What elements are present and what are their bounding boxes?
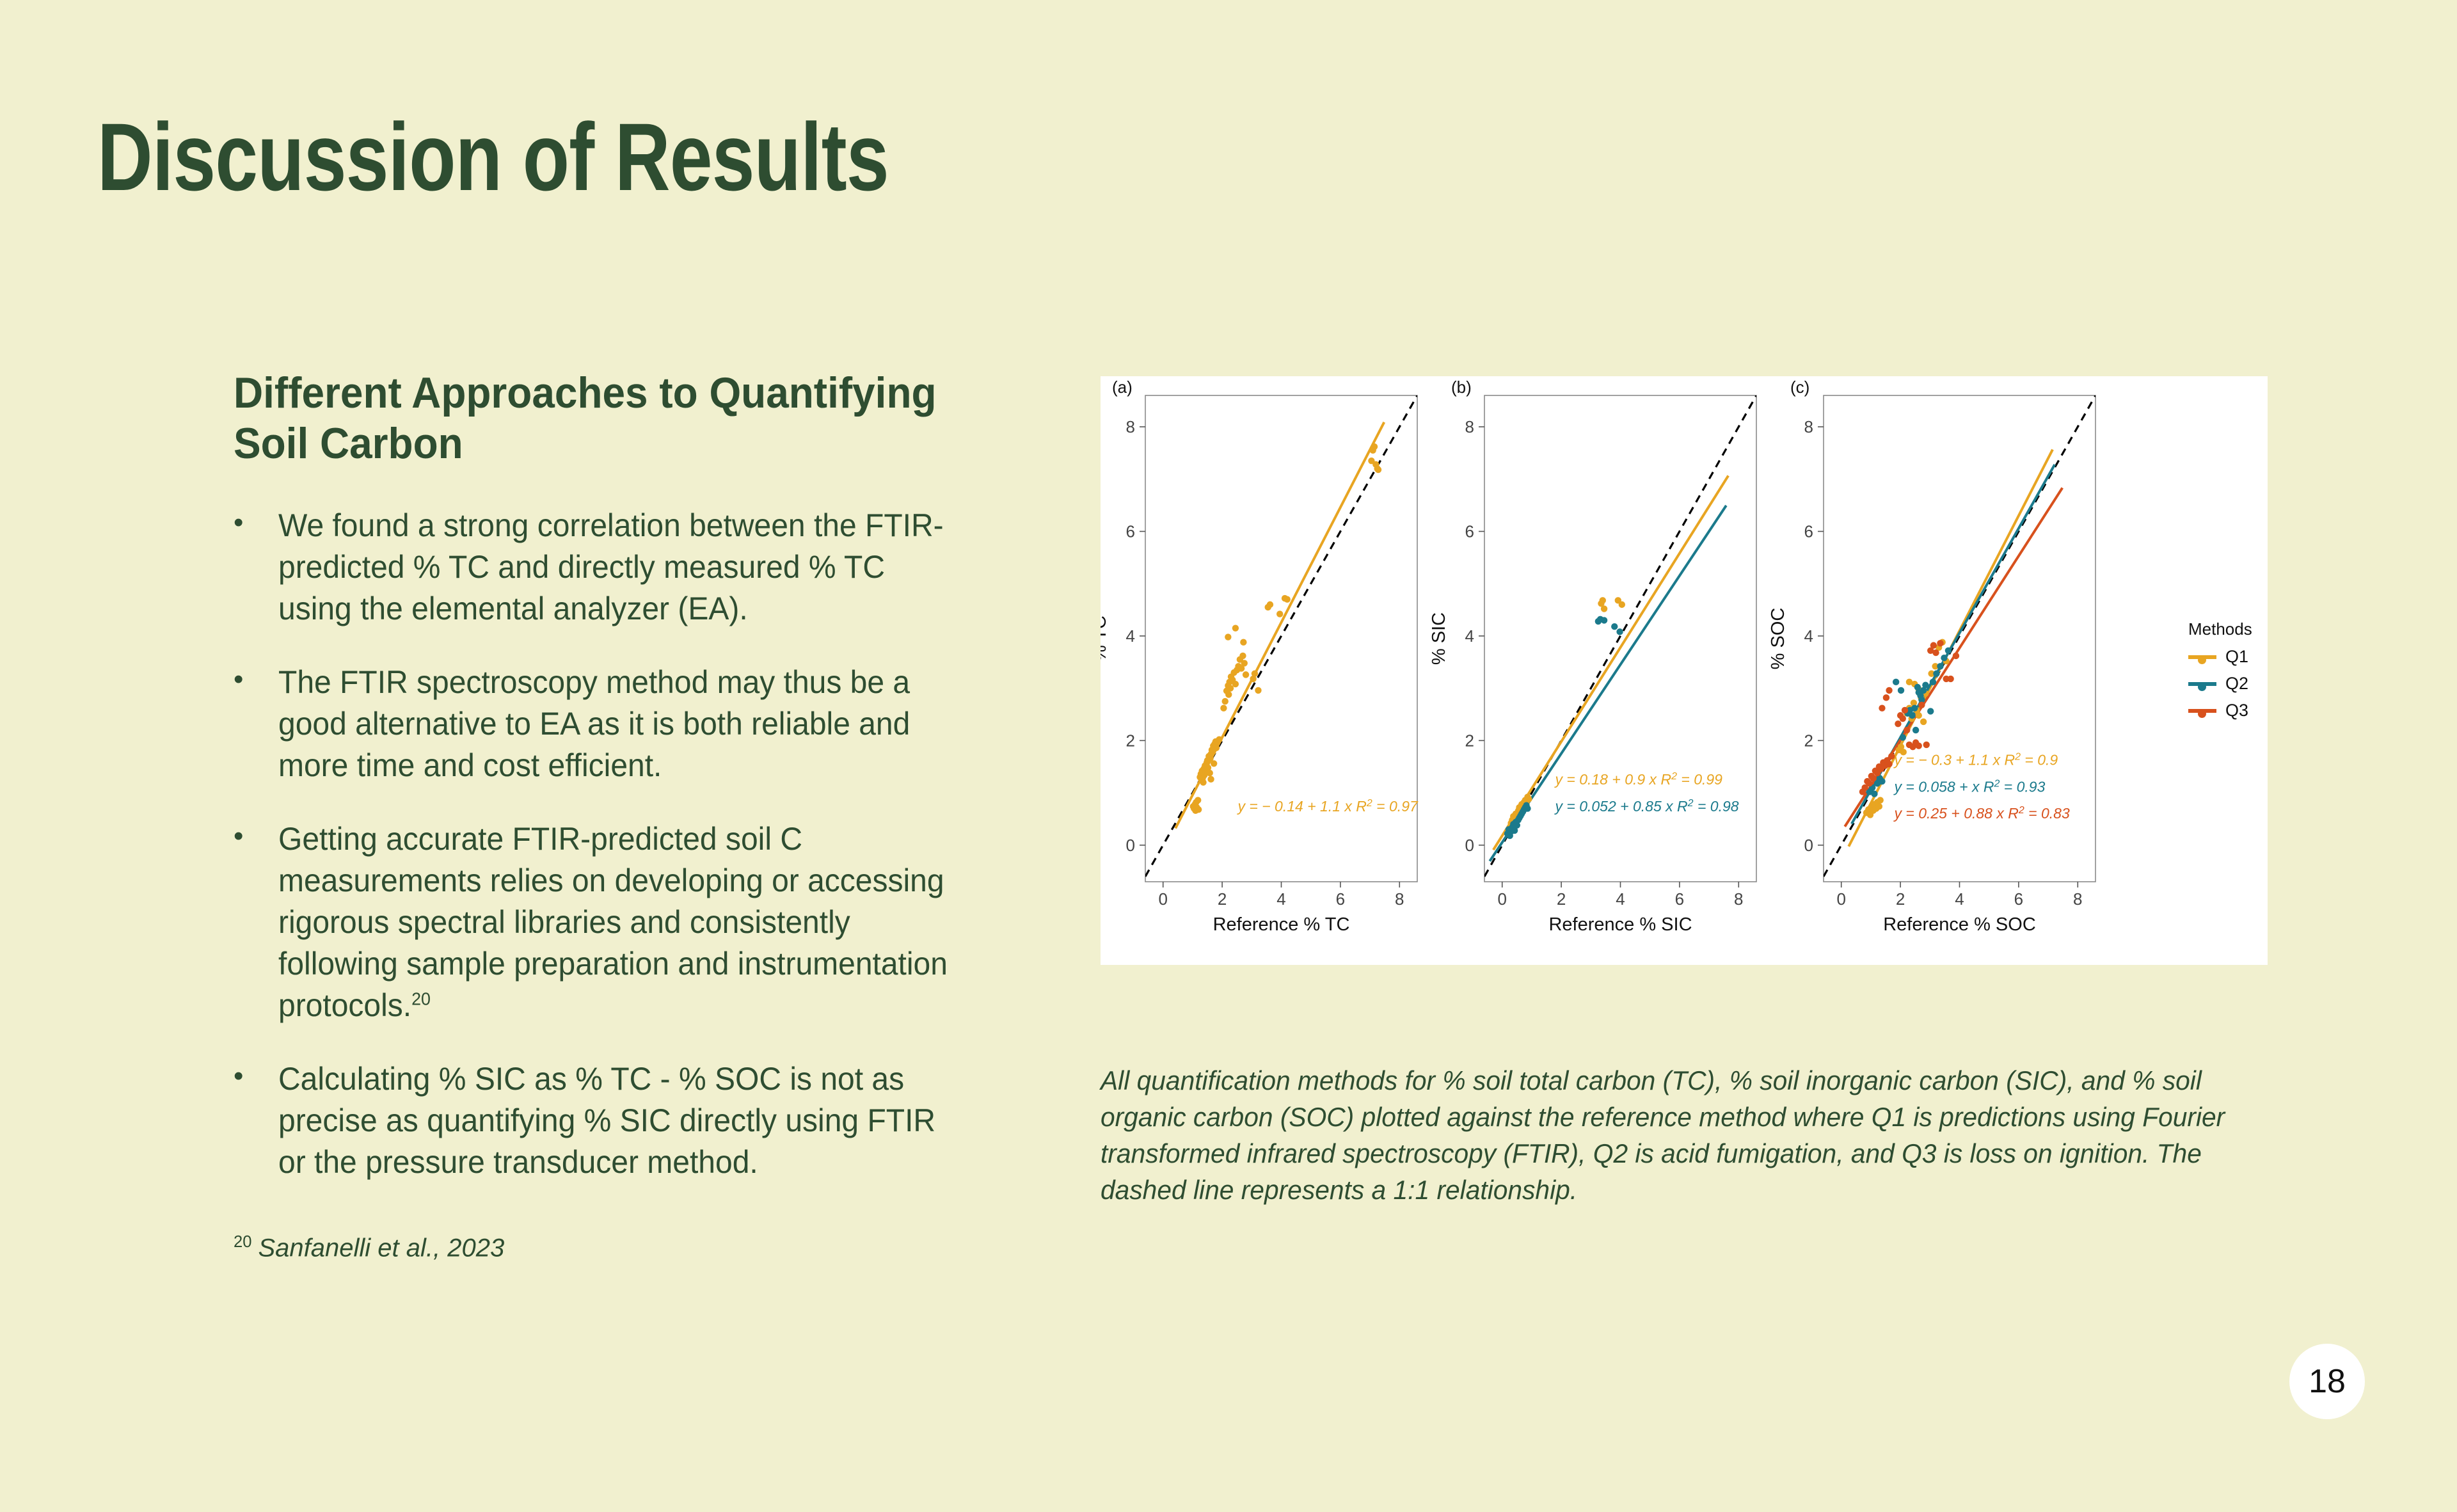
y-axis-title: % SIC: [1429, 612, 1449, 665]
chart-legend: Methods Q1 Q2 Q3: [2188, 619, 2252, 728]
data-point-q1: [1876, 803, 1882, 809]
data-point-q3: [1918, 702, 1925, 708]
data-point-q1: [1241, 660, 1248, 666]
y-tick-label: 4: [1804, 626, 1813, 646]
data-point-q3: [1923, 742, 1930, 748]
data-point-q2: [1933, 671, 1939, 677]
x-tick-label: 6: [2014, 889, 2023, 909]
footnote-text: Sanfanelli et al., 2023: [258, 1234, 504, 1262]
data-point-q2: [1930, 679, 1936, 685]
data-point-q1: [1213, 745, 1220, 751]
data-point-q1: [1255, 687, 1261, 694]
bullet-text: Getting accurate FTIR-predicted soil C m…: [278, 821, 948, 1023]
panel-label: (a): [1112, 378, 1133, 397]
data-point-q3: [1900, 715, 1906, 722]
data-point-q1: [1916, 712, 1922, 719]
data-point-q1: [1220, 704, 1227, 711]
y-tick-label: 2: [1126, 731, 1135, 750]
data-point-q1: [1267, 601, 1273, 608]
data-point-q1: [1877, 797, 1883, 803]
legend-swatch-q1: [2188, 655, 2216, 659]
regression-equation-q2: y = 0.052 + 0.85 x R2 = 0.98: [1554, 798, 1739, 815]
data-point-q1: [1200, 779, 1206, 786]
data-point-q1: [1195, 797, 1201, 803]
data-point-q2: [1909, 712, 1915, 719]
data-point-q3: [1902, 707, 1908, 713]
data-point-q3: [1886, 761, 1892, 767]
y-tick-label: 6: [1804, 521, 1813, 541]
x-tick-label: 8: [1734, 889, 1743, 909]
data-point-q3: [1883, 694, 1889, 701]
data-point-q1: [1525, 796, 1532, 802]
bullet-marker: •: [234, 505, 278, 630]
data-point-q3: [1870, 775, 1876, 781]
data-point-q1: [1207, 776, 1214, 783]
data-point-q3: [1886, 687, 1892, 694]
data-point-q1: [1920, 719, 1927, 725]
data-point-q2: [1900, 734, 1906, 740]
y-tick-label: 4: [1126, 626, 1135, 646]
data-point-q1: [1243, 671, 1249, 678]
data-point-q1: [1225, 633, 1231, 640]
x-tick-label: 8: [2073, 889, 2082, 909]
data-point-q1: [1619, 601, 1625, 608]
y-tick-label: 8: [1465, 417, 1474, 436]
data-point-q3: [1904, 727, 1910, 733]
data-point-q2: [1879, 778, 1885, 784]
regression-equation-q1: y = 0.18 + 0.9 x R2 = 0.99: [1554, 771, 1723, 788]
regression-equation-q3: y = 0.25 + 0.88 x R2 = 0.83: [1893, 805, 2070, 822]
data-point-q2: [1941, 655, 1947, 661]
figure-image-panel: (a)0246802468Reference % TC% TCy = − 0.1…: [1101, 376, 2268, 965]
bullet-text: The FTIR spectroscopy method may thus be…: [278, 662, 960, 786]
y-tick-label: 0: [1126, 836, 1135, 855]
data-point-q2: [1871, 791, 1877, 797]
scatter-panel-c: (c)0246802468Reference % SOC% SOCy = − 0…: [1768, 378, 2095, 935]
data-point-q1: [1222, 698, 1228, 704]
y-tick-label: 2: [1465, 731, 1474, 750]
x-tick-label: 8: [1395, 889, 1404, 909]
y-tick-label: 6: [1465, 521, 1474, 541]
multi-panel-scatter-figure: (a)0246802468Reference % TC% TCy = − 0.1…: [1101, 376, 2268, 965]
x-tick-label: 0: [1836, 889, 1845, 909]
regression-equation-q1: y = − 0.14 + 1.1 x R2 = 0.97: [1237, 798, 1419, 815]
data-point-q2: [1927, 708, 1934, 714]
list-item: • Getting accurate FTIR-predicted soil C…: [234, 818, 989, 1026]
data-point-q2: [1898, 687, 1904, 694]
bullet-marker: •: [234, 1058, 278, 1183]
y-tick-label: 0: [1804, 836, 1813, 855]
x-axis-title: Reference % SIC: [1548, 914, 1692, 935]
scatter-panel-b: (b)0246802468Reference % SIC% SICy = 0.1…: [1429, 378, 1756, 935]
data-point-q3: [1937, 640, 1943, 646]
bullet-text: We found a strong correlation between th…: [278, 505, 960, 630]
data-point-q3: [1895, 720, 1901, 727]
data-point-q2: [1616, 628, 1623, 635]
y-axis-title: % SOC: [1768, 608, 1788, 670]
data-point-q3: [1932, 649, 1939, 656]
data-point-q2: [1937, 663, 1943, 669]
legend-swatch-q3: [2188, 709, 2216, 713]
x-tick-label: 2: [1218, 889, 1227, 909]
data-point-q2: [1611, 623, 1618, 630]
list-item: • The FTIR spectroscopy method may thus …: [234, 662, 989, 786]
regression-equation-q1: y = − 0.3 + 1.1 x R2 = 0.9: [1893, 752, 2058, 768]
data-point-q1: [1375, 466, 1381, 473]
bullet-marker: •: [234, 818, 278, 1026]
x-axis-title: Reference % TC: [1213, 914, 1350, 935]
x-tick-label: 0: [1158, 889, 1167, 909]
x-tick-label: 4: [1276, 889, 1285, 909]
legend-item-q3: Q3: [2188, 701, 2252, 720]
list-item: • Calculating % SIC as % TC - % SOC is n…: [234, 1058, 989, 1183]
legend-item-q1: Q1: [2188, 647, 2252, 667]
x-tick-label: 6: [1336, 889, 1345, 909]
legend-label: Q2: [2225, 674, 2248, 694]
y-tick-label: 6: [1126, 521, 1135, 541]
scatter-panel-a: (a)0246802468Reference % TC% TCy = − 0.1…: [1101, 378, 1419, 935]
data-point-q1: [1601, 605, 1607, 612]
legend-label: Q1: [2225, 647, 2248, 667]
panel-label: (c): [1790, 378, 1809, 397]
data-point-q2: [1524, 805, 1531, 811]
x-axis-title: Reference % SOC: [1883, 914, 2036, 935]
section-heading: Different Approaches to Quantifying Soil…: [234, 368, 943, 469]
data-point-q1: [1371, 443, 1378, 450]
data-point-q1: [1195, 806, 1202, 813]
y-tick-label: 4: [1465, 626, 1474, 646]
legend-title: Methods: [2188, 619, 2252, 639]
figure-caption: All quantification methods for % soil to…: [1101, 1062, 2261, 1208]
data-point-q1: [1211, 760, 1217, 767]
data-point-q1: [1600, 597, 1606, 603]
page-title: Discussion of Results: [97, 109, 889, 205]
x-tick-label: 4: [1616, 889, 1625, 909]
legend-item-q2: Q2: [2188, 674, 2252, 694]
data-point-q1: [1207, 770, 1213, 776]
x-tick-label: 2: [1896, 889, 1905, 909]
footnote: 20Sanfanelli et al., 2023: [234, 1233, 989, 1262]
regression-line-q1: [1493, 475, 1728, 850]
data-point-q1: [1276, 610, 1283, 617]
y-tick-label: 0: [1465, 836, 1474, 855]
x-tick-label: 2: [1557, 889, 1566, 909]
data-point-q3: [1953, 653, 1959, 659]
y-tick-label: 8: [1804, 417, 1813, 436]
legend-label: Q3: [2225, 701, 2248, 720]
y-tick-label: 2: [1804, 731, 1813, 750]
list-item: • We found a strong correlation between …: [234, 505, 989, 630]
bullet-text: Calculating % SIC as % TC - % SOC is not…: [278, 1058, 960, 1183]
data-point-q2: [1945, 648, 1952, 654]
y-tick-label: 8: [1126, 417, 1135, 436]
left-content-column: Different Approaches to Quantifying Soil…: [234, 368, 989, 1262]
data-point-q2: [1922, 682, 1928, 688]
data-point-q1: [1232, 681, 1239, 687]
legend-swatch-q2: [2188, 682, 2216, 686]
data-point-q1: [1239, 653, 1246, 659]
data-point-q2: [1601, 617, 1607, 623]
bullet-text-with-citation: Getting accurate FTIR-predicted soil C m…: [278, 818, 960, 1026]
data-point-q1: [1284, 596, 1291, 603]
data-point-q2: [1911, 704, 1918, 711]
data-point-q1: [1216, 736, 1222, 743]
bullet-marker: •: [234, 662, 278, 786]
data-point-q1: [1232, 625, 1239, 631]
regression-equation-q2: y = 0.058 + x R2 = 0.93: [1893, 778, 2046, 795]
data-point-q3: [1947, 676, 1953, 682]
page-number-badge: 18: [2289, 1344, 2365, 1419]
data-point-q1: [1240, 639, 1246, 646]
x-tick-label: 0: [1497, 889, 1506, 909]
panel-label: (b): [1451, 378, 1472, 397]
data-point-q3: [1930, 642, 1937, 648]
x-tick-label: 6: [1675, 889, 1684, 909]
data-point-q1: [1252, 671, 1258, 677]
y-axis-title: % TC: [1101, 616, 1110, 662]
citation-marker: 20: [411, 989, 431, 1008]
footnote-marker: 20: [234, 1233, 251, 1251]
data-point-q3: [1879, 704, 1885, 711]
one-to-one-dashed-line: [1824, 395, 2095, 877]
data-point-q2: [1912, 727, 1919, 733]
data-point-q3: [1916, 742, 1922, 749]
data-point-q1: [1225, 691, 1232, 697]
data-point-q2: [1893, 679, 1899, 685]
x-tick-label: 4: [1955, 889, 1964, 909]
